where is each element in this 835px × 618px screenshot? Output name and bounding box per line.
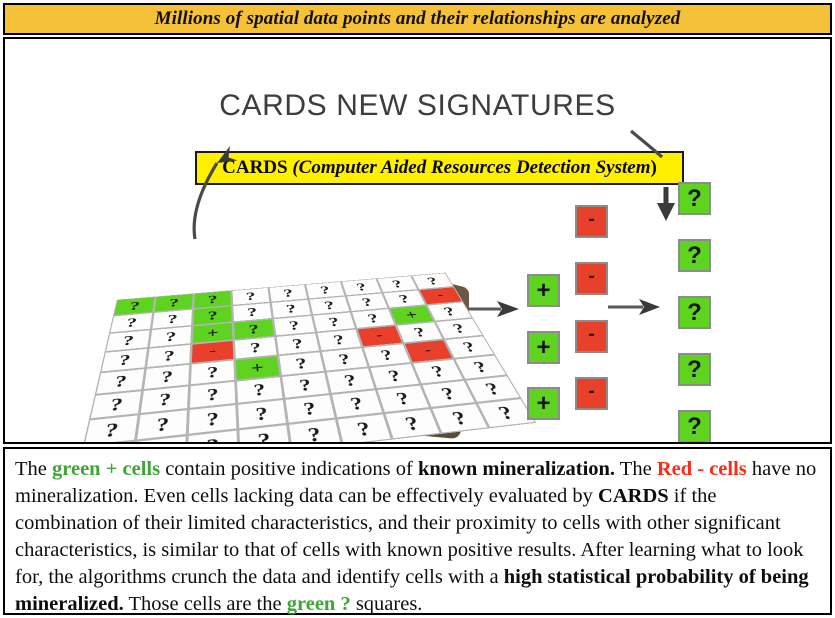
cell-glyph: ? — [207, 362, 218, 382]
cell-glyph: ? — [282, 286, 294, 300]
cell-glyph: ? — [390, 277, 405, 290]
cell-glyph: ? — [319, 283, 332, 297]
caption-segment-12: squares. — [351, 593, 423, 615]
grid-cell-r6-c0: ? — [83, 414, 139, 444]
cell-glyph: ? — [441, 304, 458, 319]
cell-glyph: ? — [428, 362, 447, 382]
cell-glyph: ? — [337, 350, 353, 369]
cell-glyph: ? — [247, 305, 258, 320]
signature-minus-2: - — [575, 262, 608, 295]
cell-glyph: ? — [342, 370, 359, 390]
cell-glyph: ? — [206, 407, 219, 431]
diagram-frame: CARDS NEW SIGNATURES CARDS (Computer Aid… — [3, 37, 832, 444]
cell-glyph: ? — [207, 384, 219, 406]
signature-minus-1: - — [575, 205, 608, 238]
cards-acronym: CARDS — [222, 157, 287, 178]
down-arrow-head — [657, 203, 675, 221]
cell-glyph: ? — [323, 298, 336, 313]
question-glyph: ? — [687, 185, 702, 213]
result-question-3: ? — [678, 296, 711, 329]
cell-glyph: ? — [327, 314, 341, 330]
cell-glyph: ? — [121, 332, 135, 349]
cards-expansion: (Computer Aided Resources Detection Syst… — [292, 157, 650, 178]
cell-glyph: ? — [470, 357, 491, 376]
cell-glyph: ? — [255, 402, 269, 425]
plus-glyph: + — [536, 277, 550, 305]
caption-segment-3: known mineralization. — [418, 458, 615, 480]
arrow-1-head — [497, 301, 519, 317]
question-glyph: ? — [687, 299, 702, 327]
signature-plus-1: + — [527, 274, 560, 307]
cell-glyph: ? — [294, 354, 308, 373]
cell-glyph: ? — [302, 397, 318, 420]
cell-glyph: ? — [393, 388, 412, 410]
caption-segment-2: contain positive indications of — [160, 458, 418, 480]
caption-text: The green + cells contain positive indic… — [15, 456, 820, 618]
minus-glyph: - — [588, 266, 594, 288]
cell-glyph: ? — [206, 433, 219, 444]
cell-glyph: ? — [113, 371, 128, 391]
caption-segment-7: CARDS — [598, 485, 669, 507]
cell-glyph: - — [374, 329, 385, 343]
cell-glyph: ? — [386, 366, 404, 386]
cell-glyph: ? — [163, 347, 176, 365]
grid-cells: ?????????????????-??+????+???-???-?????+… — [83, 271, 552, 444]
cell-glyph: ? — [285, 301, 297, 316]
cell-glyph: ? — [152, 439, 168, 444]
signatures-title: CARDS NEW SIGNATURES — [5, 89, 830, 123]
minus-glyph: - — [588, 324, 594, 346]
grid-cell-r7-c5: ? — [336, 413, 392, 444]
cell-glyph: ? — [253, 379, 266, 400]
banner-title: Millions of spatial data points and thei… — [155, 8, 681, 30]
minus-glyph: - — [588, 209, 594, 231]
cell-glyph: ? — [245, 289, 256, 303]
question-glyph: ? — [687, 356, 702, 384]
caption-segment-4: The — [615, 458, 657, 480]
result-question-2: ? — [678, 239, 711, 272]
cell-glyph: ? — [332, 331, 347, 348]
cell-glyph: ? — [411, 324, 428, 341]
cell-glyph: + — [403, 307, 421, 322]
cell-glyph: ? — [355, 280, 369, 293]
cell-glyph: ? — [158, 389, 172, 411]
cell-glyph: ? — [438, 383, 459, 404]
cell-glyph: ? — [494, 401, 518, 424]
cell-glyph: ? — [291, 335, 304, 352]
cell-glyph: ? — [366, 311, 381, 327]
cell-glyph: ? — [360, 295, 374, 309]
cell-glyph: ? — [167, 311, 178, 327]
cards-acronym-box: CARDS (Computer Aided Resources Detectio… — [195, 151, 684, 185]
cell-glyph: ? — [257, 428, 272, 444]
cell-glyph: ? — [459, 338, 478, 356]
cell-glyph: ? — [108, 393, 124, 415]
cell-glyph: - — [422, 343, 435, 358]
cell-glyph: ? — [402, 412, 422, 436]
cell-glyph: ? — [165, 328, 177, 345]
cell-glyph: ? — [450, 320, 468, 336]
cell-glyph: ? — [306, 422, 323, 444]
cards-close-paren: ) — [651, 157, 657, 178]
result-question-5: ? — [678, 410, 711, 443]
header-banner: Millions of spatial data points and thei… — [3, 3, 832, 35]
cell-glyph: ? — [117, 351, 131, 370]
cell-glyph: ? — [125, 315, 138, 331]
cell-glyph: ? — [425, 275, 441, 288]
spatial-data-grid: ?????????????????-??+????+???-???-?????+… — [143, 267, 473, 444]
caption-panel: The green + cells contain positive indic… — [3, 447, 832, 615]
cell-glyph: ? — [288, 318, 301, 334]
grid-cell-r7-c4: ? — [288, 418, 343, 444]
cell-glyph: + — [250, 358, 264, 378]
question-glyph: ? — [687, 242, 702, 270]
cell-glyph: ? — [208, 292, 218, 306]
cell-glyph: ? — [208, 308, 218, 323]
signature-minus-4: - — [575, 377, 608, 410]
cell-glyph: ? — [249, 339, 261, 357]
caption-segment-10: Those cells are the — [124, 593, 287, 615]
cell-glyph: ? — [449, 406, 471, 430]
cell-glyph: - — [209, 344, 215, 359]
cell-glyph: ? — [160, 367, 173, 387]
cell-glyph: ? — [103, 418, 120, 443]
minus-glyph: - — [588, 381, 594, 403]
arrow-2-head — [639, 299, 660, 315]
cell-glyph: ? — [348, 392, 366, 414]
diagram-page: Millions of spatial data points and thei… — [0, 0, 835, 618]
cell-glyph: ? — [396, 292, 411, 306]
cell-glyph: ? — [155, 413, 170, 437]
cell-glyph: ? — [482, 378, 504, 399]
cell-glyph: + — [207, 325, 219, 342]
plus-glyph: + — [536, 334, 550, 362]
signature-plus-3: + — [527, 387, 560, 420]
caption-segment-1: green + cells — [52, 458, 160, 480]
cell-glyph: ? — [355, 417, 374, 442]
question-glyph: ? — [687, 413, 702, 441]
cell-glyph: ? — [298, 375, 313, 396]
caption-segment-0: The — [15, 458, 52, 480]
cell-glyph: - — [435, 290, 447, 302]
caption-segment-5: Red - cells — [657, 458, 747, 480]
cell-glyph: ? — [168, 295, 179, 309]
caption-segment-11: green ? — [287, 593, 351, 615]
cell-glyph: ? — [378, 346, 395, 364]
result-question-1: ? — [678, 182, 711, 215]
plus-glyph: + — [536, 390, 550, 418]
signature-minus-3: - — [575, 320, 608, 353]
result-question-4: ? — [678, 353, 711, 386]
cards-box-text: CARDS (Computer Aided Resources Detectio… — [222, 157, 657, 179]
signature-plus-2: + — [527, 331, 560, 364]
cell-glyph: ? — [128, 299, 140, 314]
cell-glyph: ? — [248, 321, 260, 337]
